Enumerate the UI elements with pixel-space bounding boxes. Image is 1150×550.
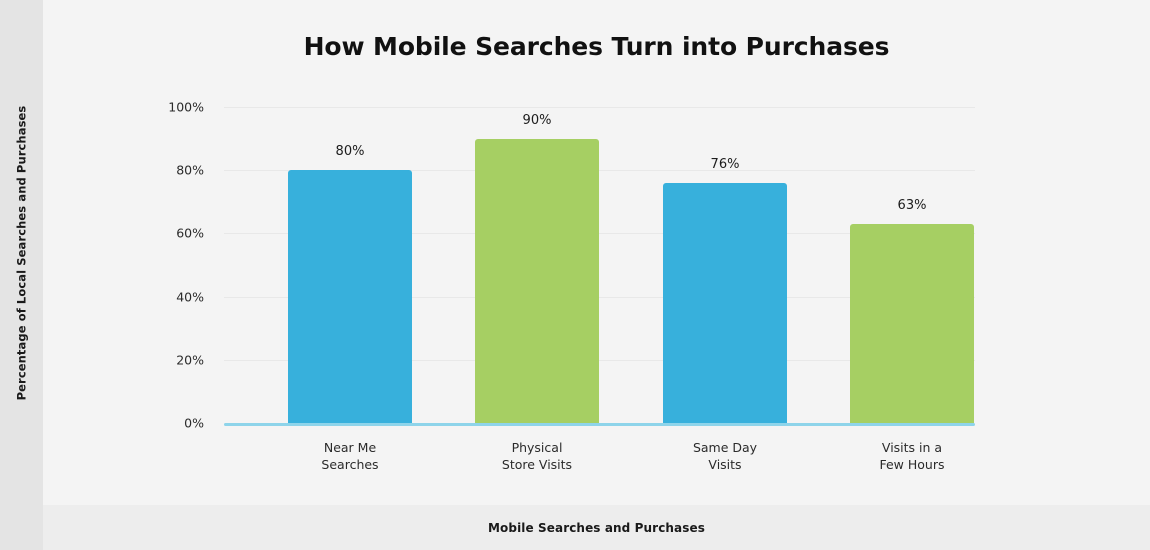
x-axis-line: [224, 423, 975, 426]
x-axis-category-label: Visits in aFew Hours: [822, 439, 1002, 473]
chart-title: How Mobile Searches Turn into Purchases: [43, 32, 1150, 61]
x-axis-category-line: Few Hours: [822, 456, 1002, 473]
x-axis-category-label: PhysicalStore Visits: [447, 439, 627, 473]
y-axis-tick-label: 20%: [176, 352, 204, 367]
left-frame-band: [0, 0, 43, 550]
x-axis-title: Mobile Searches and Purchases: [43, 505, 1150, 550]
y-axis-tick-label: 40%: [176, 289, 204, 304]
plot-area: 0%20%40%60%80%100%80%Near MeSearches90%P…: [224, 107, 975, 423]
x-axis-category-line: Visits: [635, 456, 815, 473]
bar-chart-figure: Percentage of Local Searches and Purchas…: [0, 0, 1150, 550]
bar[interactable]: 63%: [850, 224, 974, 423]
x-axis-category-line: Physical: [447, 439, 627, 456]
bar[interactable]: 80%: [288, 170, 412, 423]
y-axis-tick-label: 80%: [176, 163, 204, 178]
x-axis-title-text: Mobile Searches and Purchases: [488, 521, 705, 535]
y-axis-tick-label: 60%: [176, 226, 204, 241]
bar[interactable]: 90%: [475, 139, 599, 423]
y-axis-tick-label: 100%: [168, 100, 204, 115]
x-axis-category-label: Same DayVisits: [635, 439, 815, 473]
x-axis-category-label: Near MeSearches: [260, 439, 440, 473]
bar-value-label: 90%: [523, 113, 552, 128]
x-axis-category-line: Store Visits: [447, 456, 627, 473]
gridline: [224, 107, 975, 108]
x-axis-category-line: Visits in a: [822, 439, 1002, 456]
bar-value-label: 63%: [898, 198, 927, 213]
bar-value-label: 80%: [336, 144, 365, 159]
x-axis-category-line: Near Me: [260, 439, 440, 456]
x-axis-category-line: Searches: [260, 456, 440, 473]
bar[interactable]: 76%: [663, 183, 787, 423]
bar-value-label: 76%: [711, 157, 740, 172]
x-axis-category-line: Same Day: [635, 439, 815, 456]
y-axis-tick-label: 0%: [184, 416, 204, 431]
